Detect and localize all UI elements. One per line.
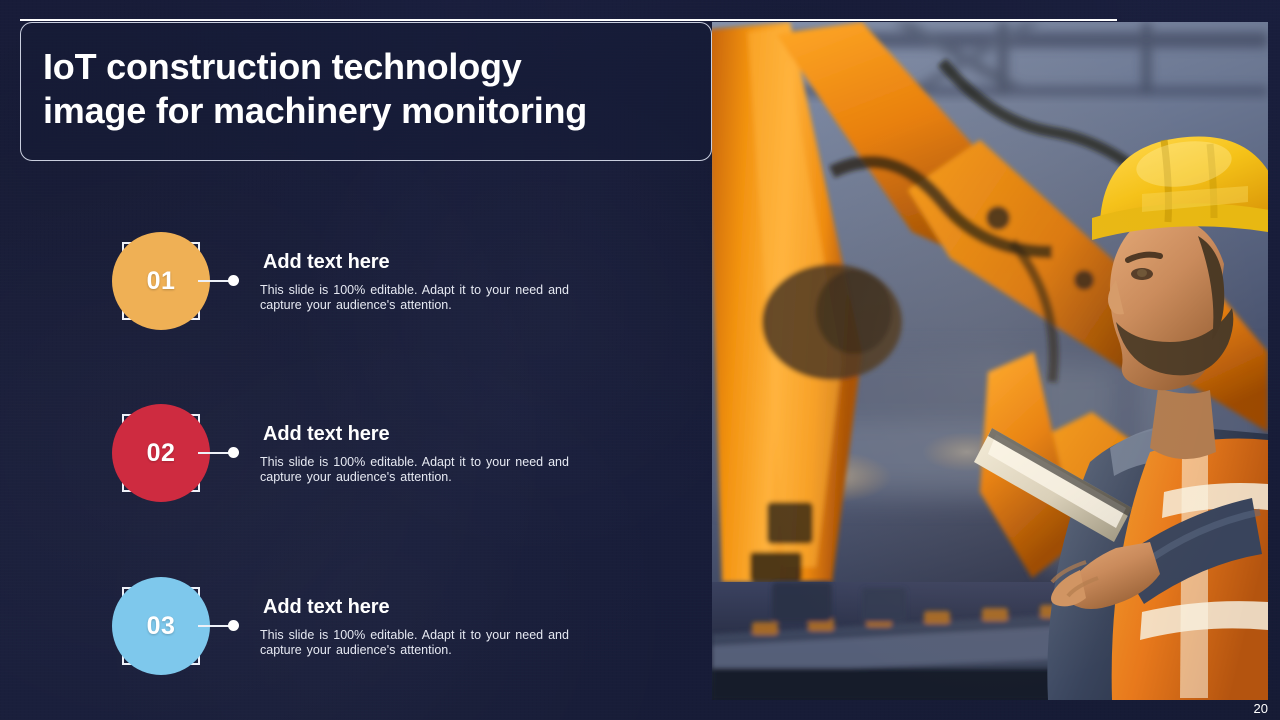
hero-photo	[712, 22, 1268, 700]
item-heading: Add text here	[263, 596, 390, 619]
item-body: This slide is 100% editable. Adapt it to…	[260, 455, 580, 485]
badge-circle: 03	[112, 577, 210, 675]
item-body: This slide is 100% editable. Adapt it to…	[260, 283, 580, 313]
page-title: IoT construction technology image for ma…	[43, 45, 693, 133]
connector-dot	[228, 447, 239, 458]
item-heading: Add text here	[263, 423, 390, 446]
hero-photo-illustration	[712, 22, 1268, 700]
connector-line	[198, 625, 232, 627]
connector-dot	[228, 275, 239, 286]
page-number: 20	[1254, 701, 1268, 716]
item-body: This slide is 100% editable. Adapt it to…	[260, 628, 580, 658]
badge-02[interactable]: 02	[122, 414, 200, 492]
title-box: IoT construction technology image for ma…	[20, 22, 712, 161]
badge-number: 02	[147, 441, 176, 466]
badge-circle: 02	[112, 404, 210, 502]
slide-canvas: IoT construction technology image for ma…	[0, 0, 1280, 720]
badge-01[interactable]: 01	[122, 242, 200, 320]
top-divider-rule	[20, 19, 1117, 21]
badge-03[interactable]: 03	[122, 587, 200, 665]
badge-number: 03	[147, 614, 176, 639]
connector-dot	[228, 620, 239, 631]
badge-number: 01	[147, 269, 176, 294]
item-heading: Add text here	[263, 251, 390, 274]
connector-line	[198, 280, 232, 282]
badge-circle: 01	[112, 232, 210, 330]
connector-line	[198, 452, 232, 454]
